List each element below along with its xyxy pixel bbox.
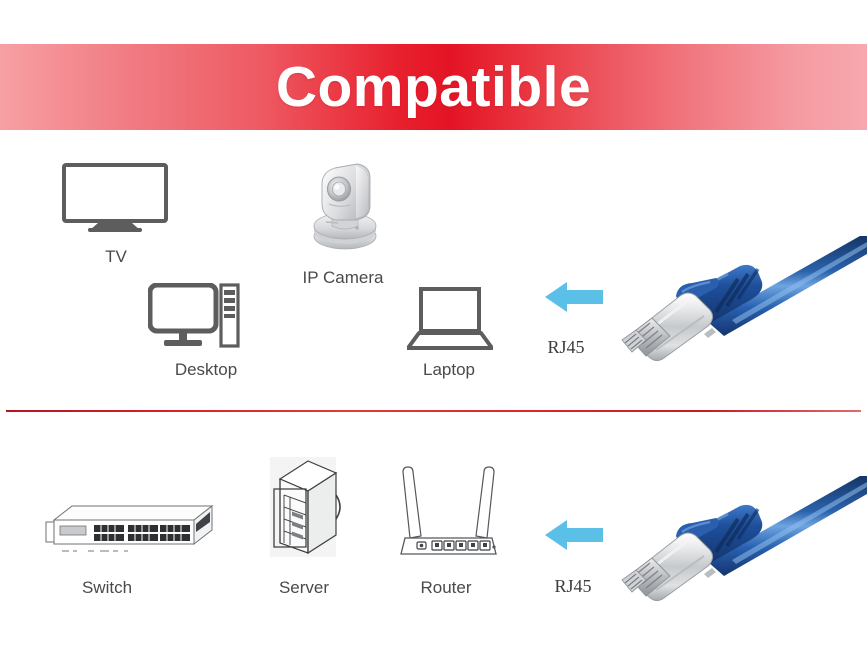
- router-icon: [397, 462, 500, 562]
- ip-camera-label: IP Camera: [303, 268, 384, 288]
- tv-label: TV: [105, 247, 127, 267]
- compatibility-diagram: Compatible TV: [0, 0, 867, 650]
- ip-camera-icon: [305, 160, 385, 252]
- rj45-patch-cable-top: [612, 236, 867, 366]
- switch-label: Switch: [82, 578, 132, 598]
- header-banner: Compatible: [0, 44, 867, 130]
- rj45-label-bottom: RJ45: [554, 576, 591, 597]
- page-title: Compatible: [276, 59, 591, 116]
- tv-icon: [60, 163, 170, 233]
- server-label: Server: [279, 578, 329, 598]
- section-divider: [6, 410, 861, 412]
- desktop-label: Desktop: [175, 360, 237, 380]
- server-rack-icon: [266, 455, 344, 563]
- arrow-left-icon: [543, 278, 605, 316]
- rj45-patch-cable-bottom: [612, 476, 867, 606]
- desktop-icon: [148, 283, 240, 355]
- laptop-label: Laptop: [423, 360, 475, 380]
- laptop-icon: [407, 287, 493, 353]
- switch-icon: [44, 498, 214, 560]
- router-label: Router: [420, 578, 471, 598]
- arrow-left-icon-bottom: [543, 516, 605, 554]
- rj45-label-top: RJ45: [547, 337, 584, 358]
